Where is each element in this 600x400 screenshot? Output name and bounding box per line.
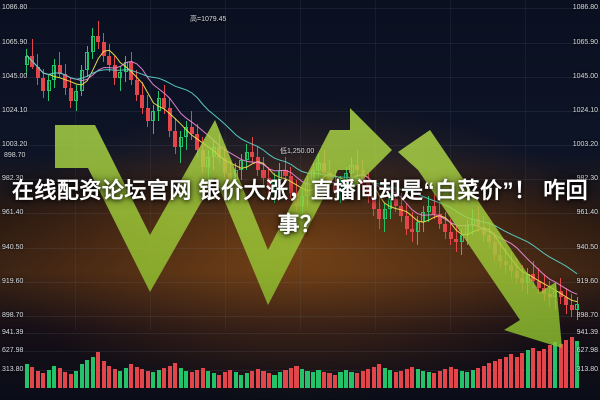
headline-overlay: 在线配资论坛官网 银价大涨，直播间却是“白菜价”！ 咋回事？ xyxy=(0,168,600,248)
headline-text: 在线配资论坛官网 银价大涨，直播间却是“白菜价”！ 咋回事？ xyxy=(10,174,590,242)
chart-screenshot: 1086.801065.901045.001024.101003.20982.3… xyxy=(0,0,600,400)
